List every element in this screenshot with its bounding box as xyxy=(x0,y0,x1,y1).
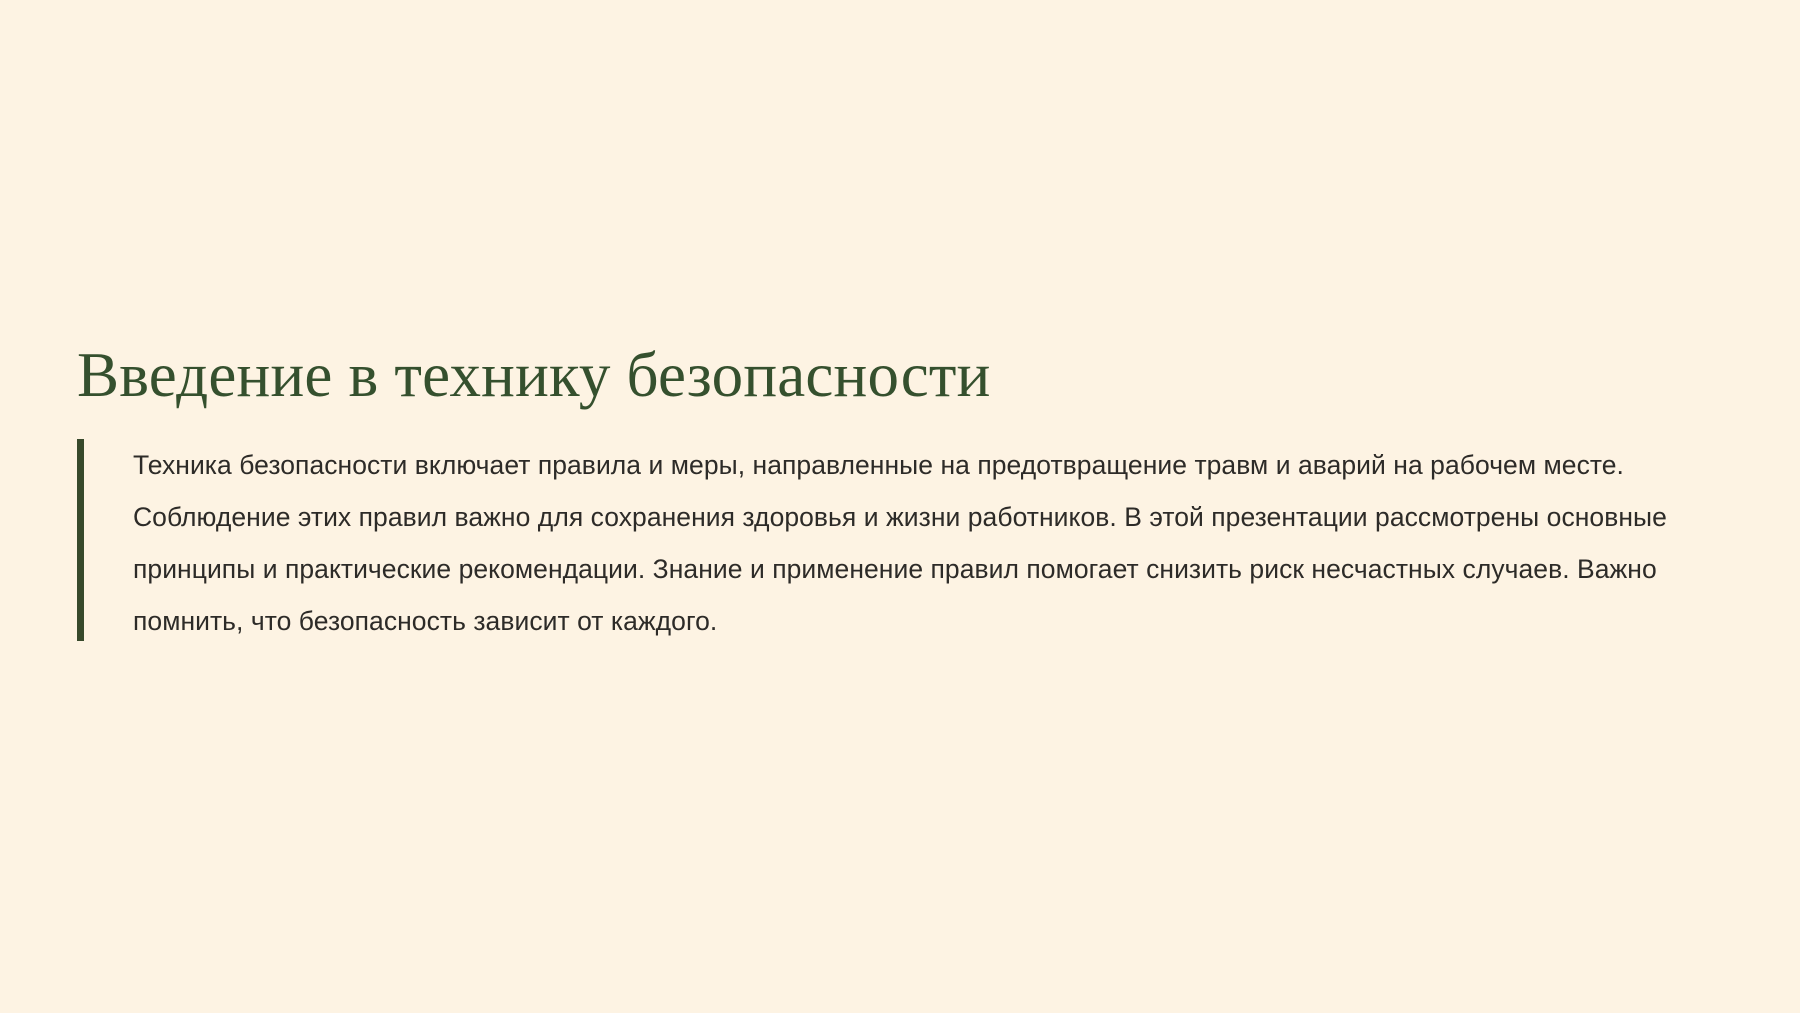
presentation-slide: Введение в технику безопасности Техника … xyxy=(0,0,1800,1013)
slide-title: Введение в технику безопасности xyxy=(77,340,1717,411)
accent-bar xyxy=(77,439,84,641)
slide-content: Введение в технику безопасности Техника … xyxy=(77,340,1717,647)
body-block: Техника безопасности включает правила и … xyxy=(77,439,1717,647)
body-paragraph: Техника безопасности включает правила и … xyxy=(133,439,1718,647)
